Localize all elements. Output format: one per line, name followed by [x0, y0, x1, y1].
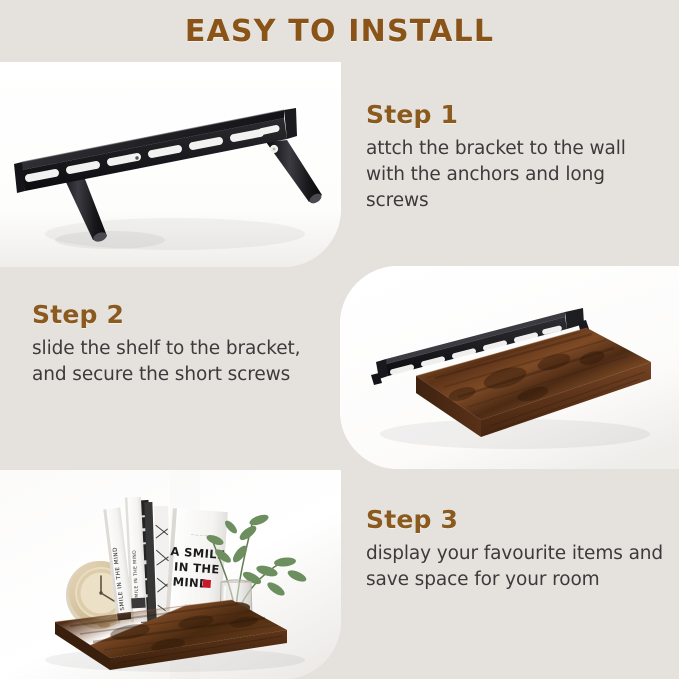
- step-2-text: Step 2 slide the shelf to the bracket, a…: [32, 300, 332, 388]
- wall-mount-bracket-photo: [0, 62, 341, 267]
- step-2-body: slide the shelf to the bracket, and secu…: [32, 336, 332, 388]
- shelf-on-bracket-photo: [340, 266, 679, 469]
- step-2-image-panel: [340, 266, 679, 469]
- step-3-body: display your favourite items and save sp…: [366, 541, 671, 593]
- step-1-heading: Step 1: [366, 100, 666, 129]
- page-title: EASY TO INSTALL: [0, 14, 679, 49]
- styled-shelf-photo: A SMILE IN THE MIND A SMILE IN THE MIND: [0, 470, 341, 679]
- infographic-root: EASY TO INSTALL: [0, 0, 679, 679]
- step-3-image-panel: A SMILE IN THE MIND A SMILE IN THE MIND: [0, 470, 341, 679]
- step-1-text: Step 1 attch the bracket to the wall wit…: [366, 100, 666, 214]
- step-1-body: attch the bracket to the wall with the a…: [366, 136, 666, 214]
- step-1-image-panel: [0, 62, 341, 267]
- step-3-text: Step 3 display your favourite items and …: [366, 505, 671, 593]
- step-3-heading: Step 3: [366, 505, 671, 534]
- step-2-heading: Step 2: [32, 300, 332, 329]
